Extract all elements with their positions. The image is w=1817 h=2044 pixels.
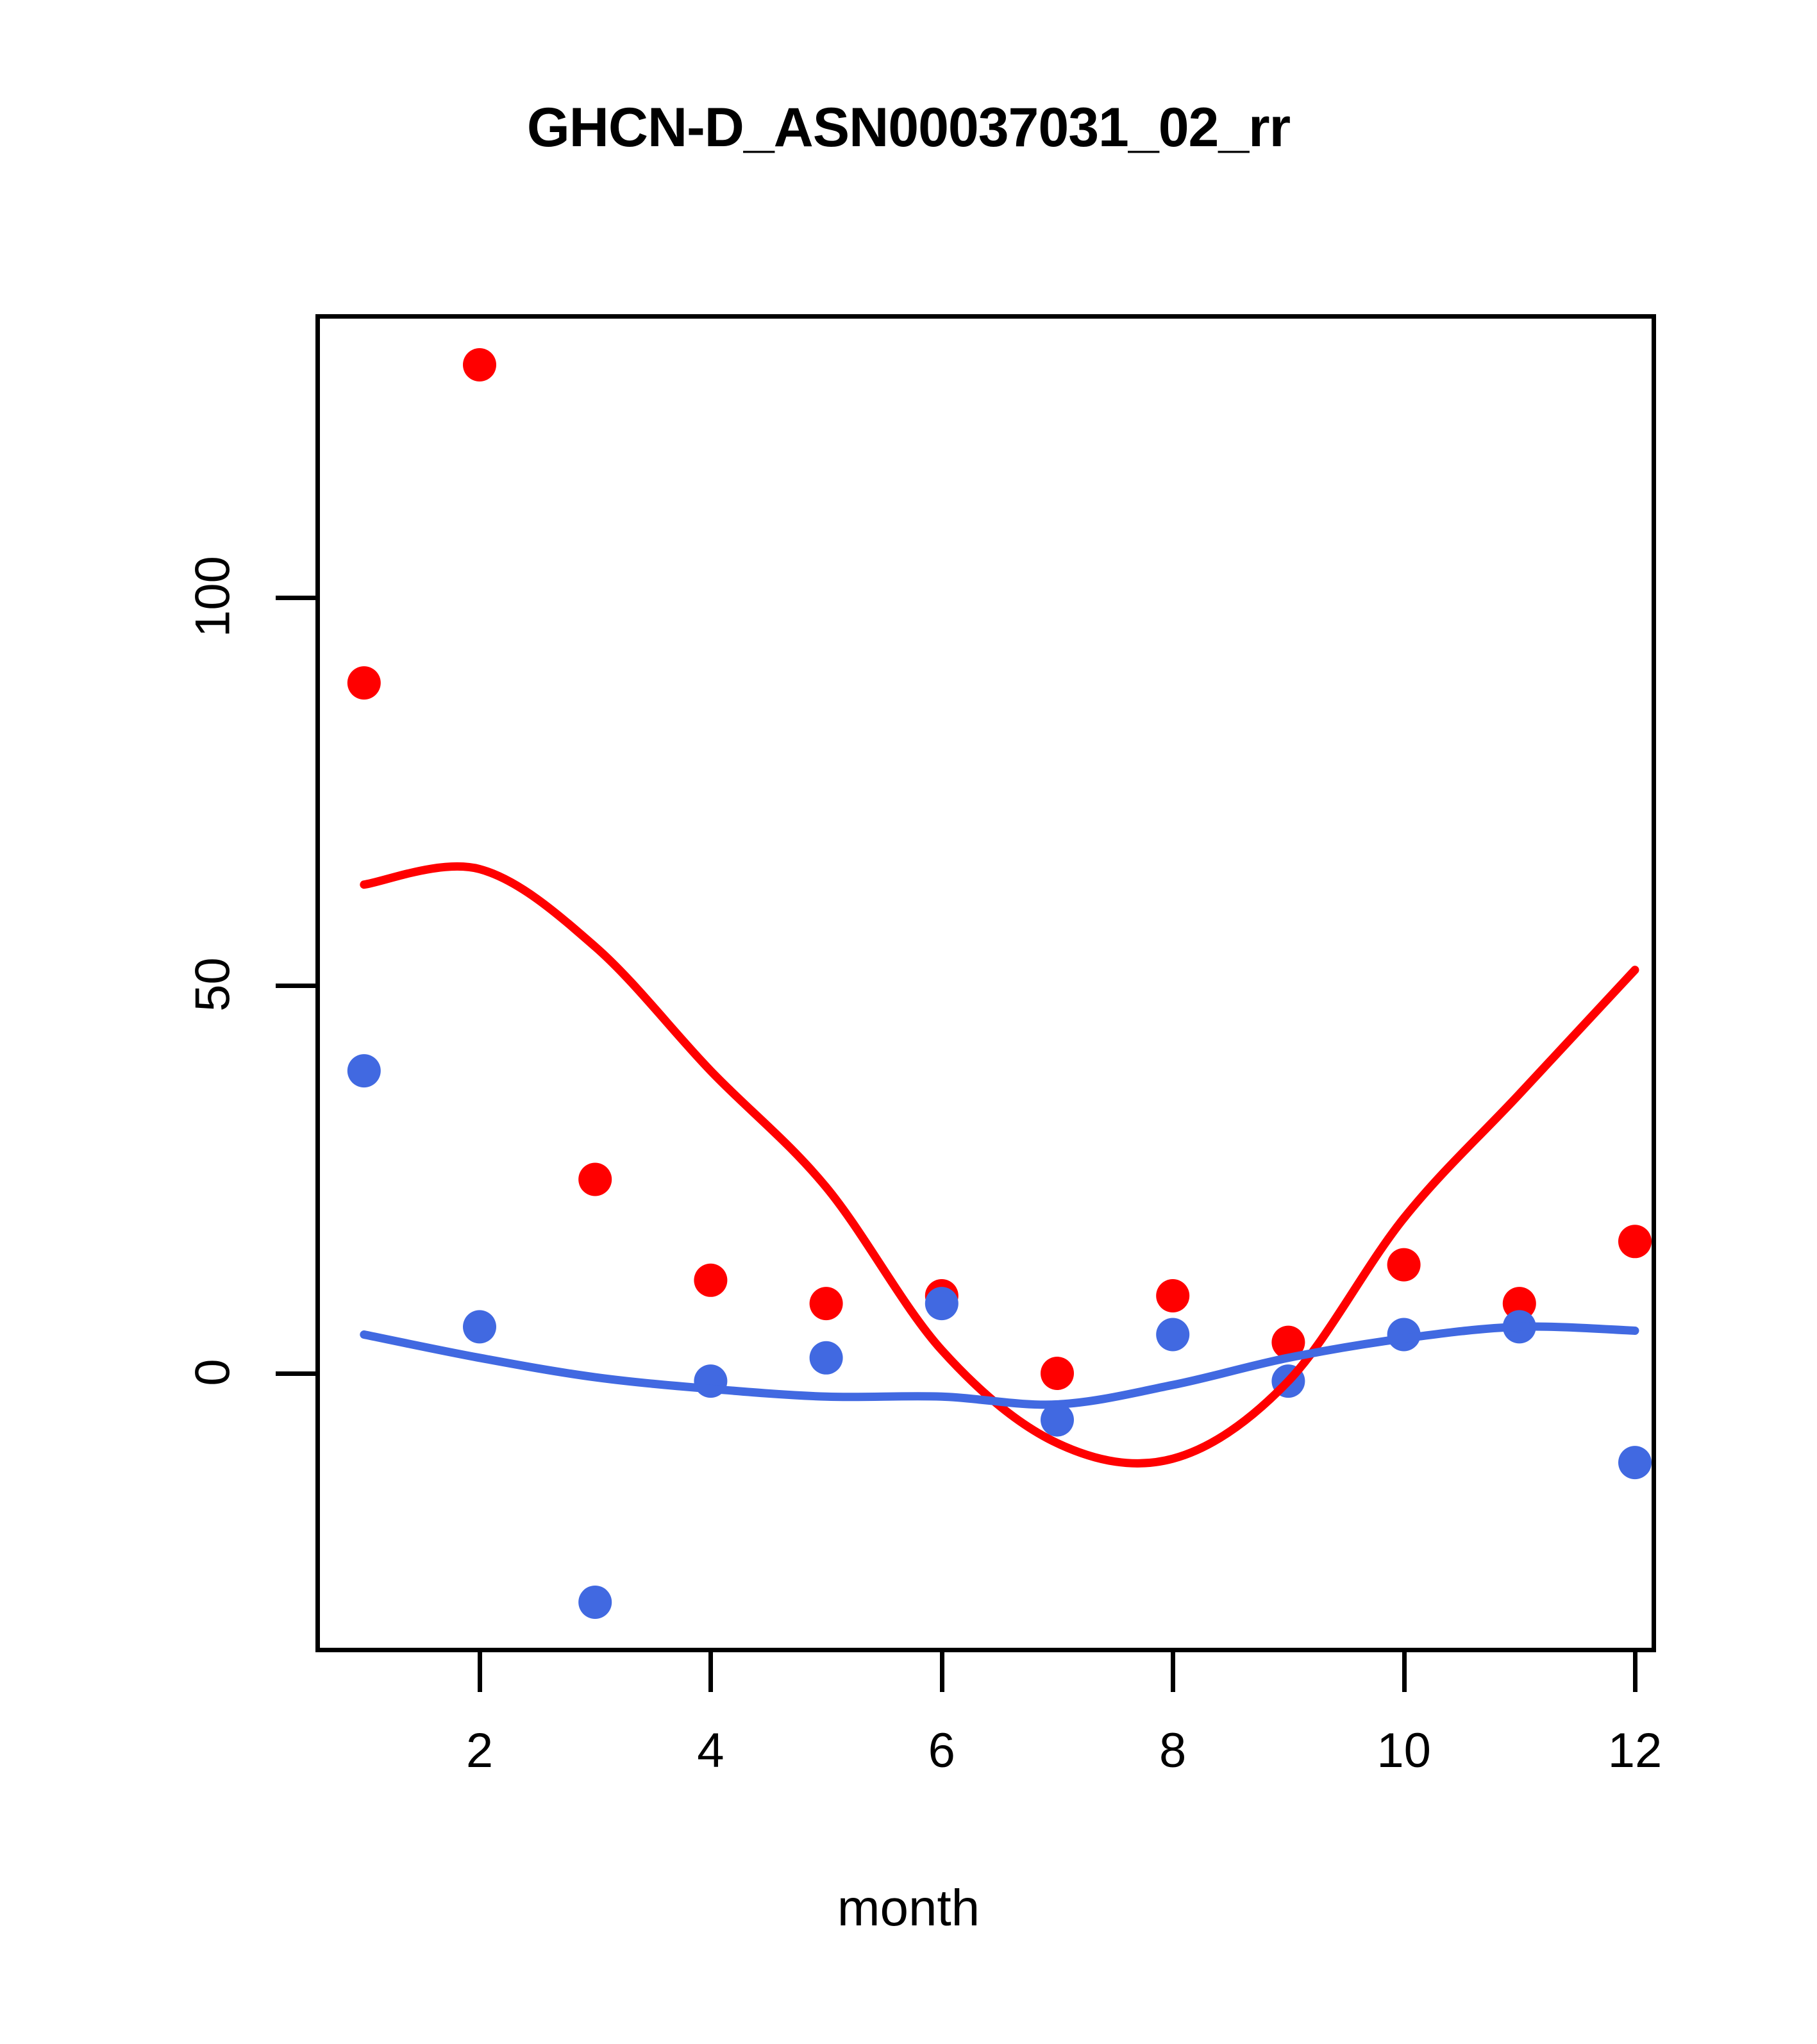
page-title: GHCN-D_ASN00037031_02_rr bbox=[0, 96, 1817, 160]
x-axis-tick bbox=[1633, 1652, 1637, 1692]
x-axis-title: month bbox=[0, 1879, 1817, 1938]
x-axis-tick bbox=[940, 1652, 944, 1692]
y-axis-tick-label: 50 bbox=[185, 940, 241, 1030]
x-axis-tick-label: 6 bbox=[884, 1723, 1000, 1779]
y-axis-tick bbox=[276, 984, 315, 988]
y-axis-tick bbox=[276, 1371, 315, 1376]
y-axis-tick-label: 0 bbox=[185, 1328, 241, 1418]
x-axis-tick bbox=[478, 1652, 482, 1692]
x-axis-tick bbox=[708, 1652, 713, 1692]
x-axis-tick-label: 12 bbox=[1577, 1723, 1693, 1779]
y-axis-tick bbox=[276, 596, 315, 600]
y-axis-tick-label: 100 bbox=[185, 552, 241, 642]
x-axis-tick-label: 8 bbox=[1115, 1723, 1230, 1779]
chart-canvas: GHCN-D_ASN00037031_02_rr 050100 24681012… bbox=[0, 0, 1817, 2044]
x-axis-tick-label: 4 bbox=[653, 1723, 768, 1779]
plot-area-frame bbox=[315, 314, 1656, 1652]
x-axis-tick bbox=[1402, 1652, 1407, 1692]
x-axis-tick-label: 2 bbox=[422, 1723, 537, 1779]
x-axis-tick bbox=[1171, 1652, 1175, 1692]
x-axis-tick-label: 10 bbox=[1346, 1723, 1462, 1779]
